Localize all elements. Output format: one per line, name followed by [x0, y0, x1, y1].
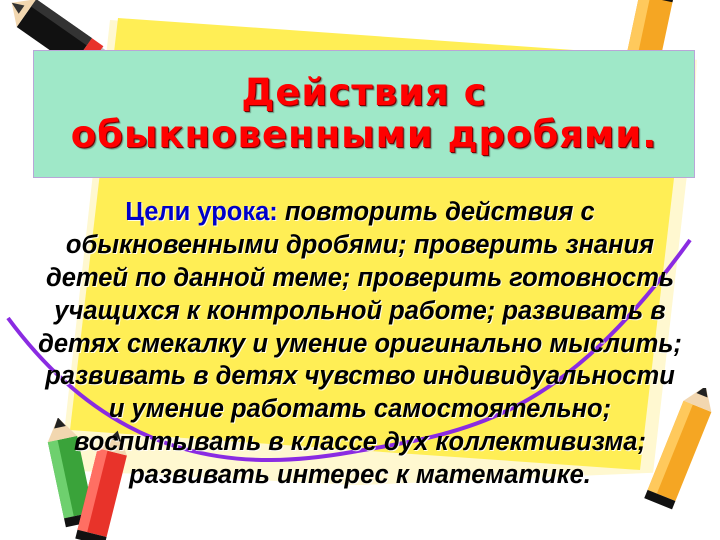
goals-label: Цели урока:	[125, 198, 278, 226]
page-title: Действия с обыкновенными дробями.	[61, 72, 668, 156]
slide-canvas: Действия с обыкновенными дробями. Цели у…	[0, 0, 720, 540]
lesson-goals-text: Цели урока: повторить действия с обыкнов…	[34, 196, 686, 492]
goals-body: повторить действия с обыкновенными дробя…	[38, 198, 682, 489]
title-banner: Действия с обыкновенными дробями.	[33, 50, 695, 178]
